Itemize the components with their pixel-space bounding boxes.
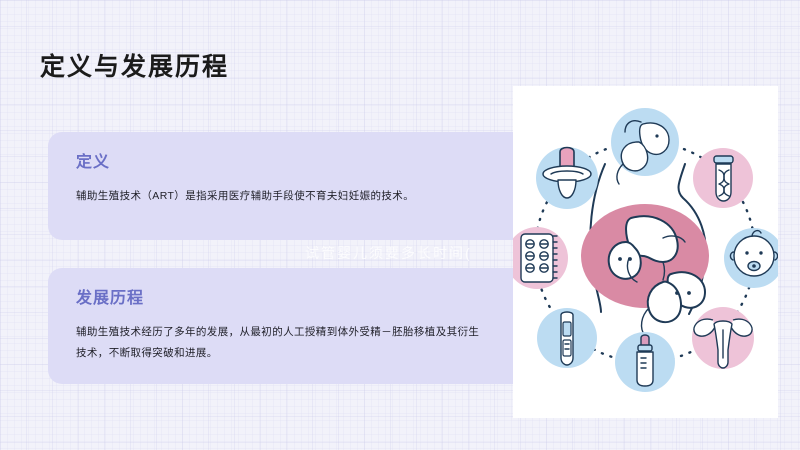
definition-card: 定义 辅助生殖技术（ART）是指采用医疗辅助手段使不育夫妇妊娠的技术。 — [48, 132, 513, 240]
watermark-text: 试管婴儿须要多长时间( — [305, 243, 472, 263]
slide-root: 定义与发展历程 定义 辅助生殖技术（ART）是指采用医疗辅助手段使不育夫妇妊娠的… — [0, 0, 800, 450]
fetus-icon — [611, 108, 679, 184]
dna-test-tube-icon — [693, 148, 753, 208]
baby-bottle-icon — [615, 332, 675, 392]
history-card-heading: 发展历程 — [76, 290, 489, 308]
baby-face-icon — [724, 228, 778, 288]
history-card: 发展历程 辅助生殖技术经历了多年的发展，从最初的人工授精到体外受精－胚胎移植及其… — [48, 268, 513, 384]
history-card-body: 辅助生殖技术经历了多年的发展，从最初的人工授精到体外受精－胚胎移植及其衍生技术，… — [76, 322, 489, 364]
definition-card-heading: 定义 — [76, 154, 489, 172]
definition-card-body: 辅助生殖技术（ART）是指采用医疗辅助手段使不育夫妇妊娠的技术。 — [76, 186, 489, 207]
pill-blister-pack-icon — [513, 227, 568, 289]
uterus-icon — [692, 307, 754, 369]
fertility-illustration: .ln { fill:none; stroke:#1f3a56; stroke-… — [513, 86, 778, 418]
pregnancy-test-icon — [537, 308, 597, 368]
pacifier-icon — [536, 147, 598, 209]
illustration-panel: .ln { fill:none; stroke:#1f3a56; stroke-… — [513, 86, 778, 418]
page-title: 定义与发展历程 — [40, 47, 229, 83]
